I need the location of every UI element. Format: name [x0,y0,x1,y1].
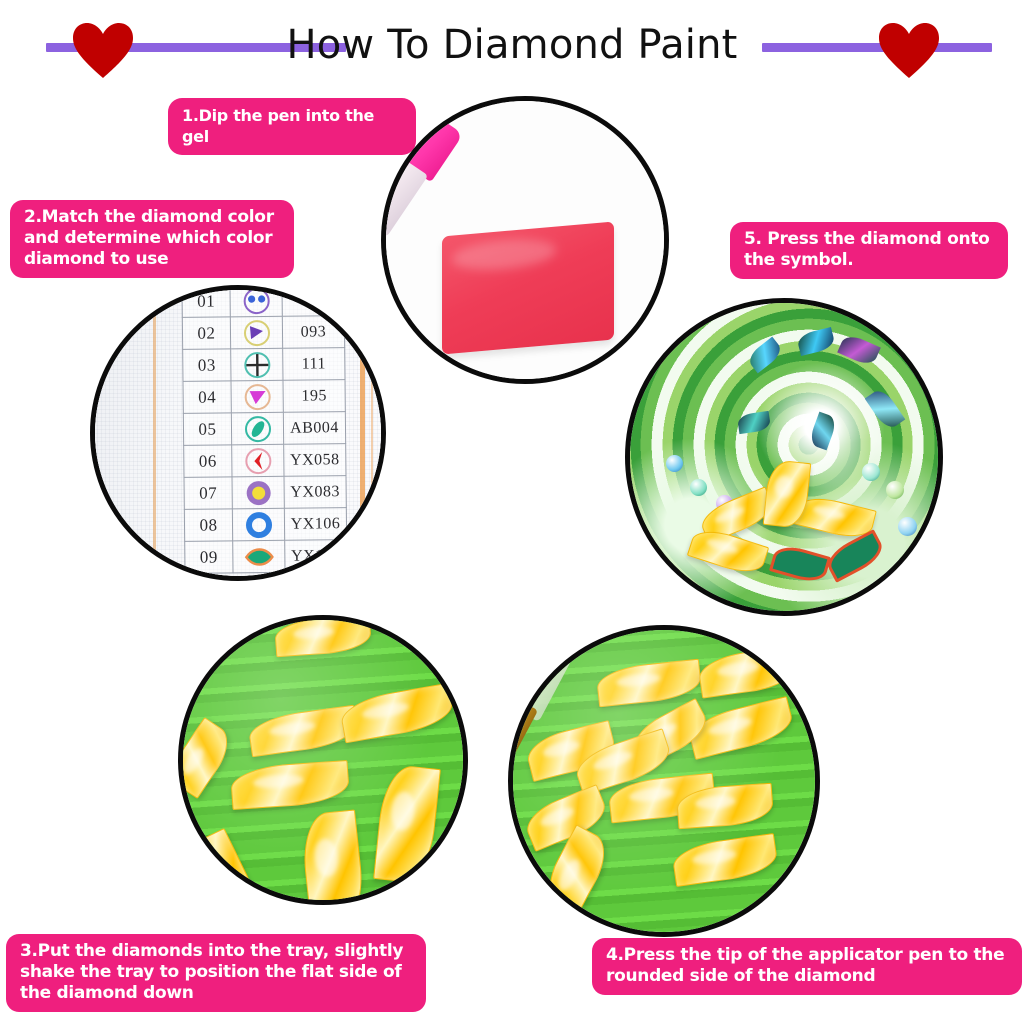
diamond [627,698,714,768]
page-header: How To Diamond Paint [0,0,1024,90]
magenta-triangle-icon [242,381,272,411]
color-symbol-table: 01 028 02 [181,285,347,574]
red-chevron-icon [243,445,273,475]
diamond-tray-scene [183,620,463,900]
row-number: 04 [183,381,231,414]
teal-ellipse-icon [242,413,272,443]
placed-gem [898,517,917,536]
table-row: 02 093 [182,316,344,350]
step-2-photo: 01 028 02 [90,285,386,581]
diamond [274,615,372,657]
row-number: 05 [183,413,231,446]
row-symbol [232,508,284,541]
row-number: 09 [185,541,233,574]
row-symbol [233,540,285,573]
row-symbol [230,316,282,349]
row-code: YX125 [285,540,347,573]
blue-ring-icon [243,509,273,539]
placed-gem [745,337,784,374]
placed-gem [837,332,881,368]
diamond [299,809,367,905]
row-number: 03 [183,349,231,382]
row-number: 02 [182,317,230,350]
row-code: 111 [283,348,345,381]
diamond [607,773,717,824]
step-3-photo [178,615,468,905]
row-code: 093 [282,316,344,349]
row-symbol [232,476,284,509]
step-1-label: 1.Dip the pen into the gel [168,98,416,155]
gel-pad [442,221,614,354]
diamond [230,760,351,810]
infographic-page: How To Diamond Paint 1.Dip the pen into … [0,0,1024,1024]
step-4-photo [508,625,820,937]
step-1-photo [381,96,669,384]
row-code: YX058 [284,444,346,477]
chart-margin-line [153,290,156,581]
green-leaf-icon [244,541,274,571]
row-number: 07 [184,477,232,510]
placed-gem [865,386,906,431]
pen-tip-icon [508,698,538,781]
table-row: 04 195 [183,380,345,414]
placed-gem [690,479,707,496]
diamond-pickup-scene [513,630,815,932]
row-code: YX106 [284,508,346,541]
table-row: 03 111 [183,348,345,382]
row-number: 08 [184,509,232,542]
row-symbol [232,444,284,477]
diamond [247,705,359,758]
pen-barrel-icon [625,298,692,391]
row-code: YX083 [284,476,346,509]
step-5-label: 5. Press the diamond onto the symbol. [730,222,1008,279]
yellow-flower-icon [243,477,273,507]
placed-gem [796,327,836,356]
row-number: 06 [184,445,232,478]
row-symbol [231,380,283,413]
placed-gem [666,455,683,472]
diamond [178,828,272,905]
step-5-photo [625,298,943,616]
diamond [338,683,456,744]
table-row: 05 AB004 [183,412,345,446]
unfilled-symbol [769,542,831,586]
diamond [697,645,800,698]
diamond [671,833,780,887]
table-row: 06 YX058 [184,444,346,478]
diamond [571,728,675,796]
placed-gem [808,412,838,451]
step-2-label: 2.Match the diamond color and determine … [10,200,294,278]
page-title: How To Diamond Paint [0,18,1024,72]
plus-cross-icon [242,349,272,379]
diamond [373,763,441,884]
blue-double-dot-icon [241,285,271,315]
applicator-pen [625,298,695,465]
chart-margin-line [371,290,373,581]
gel-scene [386,101,664,379]
chart-margin-line [360,290,365,581]
row-number: 01 [182,285,230,317]
row-symbol [231,348,283,381]
applicator-pen [508,625,602,796]
table-row: 09 YX125 [185,540,347,574]
diamond [520,784,611,852]
color-chart-scene: 01 028 02 [95,290,381,576]
diamond [686,696,797,760]
diamond [539,824,615,915]
purple-triangle-icon [241,317,271,347]
mandala-canvas-scene [630,303,938,611]
row-symbol [230,285,282,317]
diamond [178,717,238,799]
placed-gem [737,411,771,434]
placed-gem [862,463,880,481]
row-code: 195 [283,380,345,413]
unfilled-symbol [822,529,887,583]
placed-gem [886,481,904,499]
table-row: 01 028 [182,285,344,317]
diamond [676,783,775,830]
row-code: 028 [282,285,344,316]
step-3-label: 3.Put the diamonds into the tray, slight… [6,934,426,1012]
step-4-label: 4.Press the tip of the applicator pen to… [592,938,1022,995]
row-code: AB004 [283,412,345,445]
row-symbol [231,412,283,445]
diamond [595,659,702,708]
table-row: 07 YX083 [184,476,346,510]
table-row: 08 YX106 [184,508,346,542]
